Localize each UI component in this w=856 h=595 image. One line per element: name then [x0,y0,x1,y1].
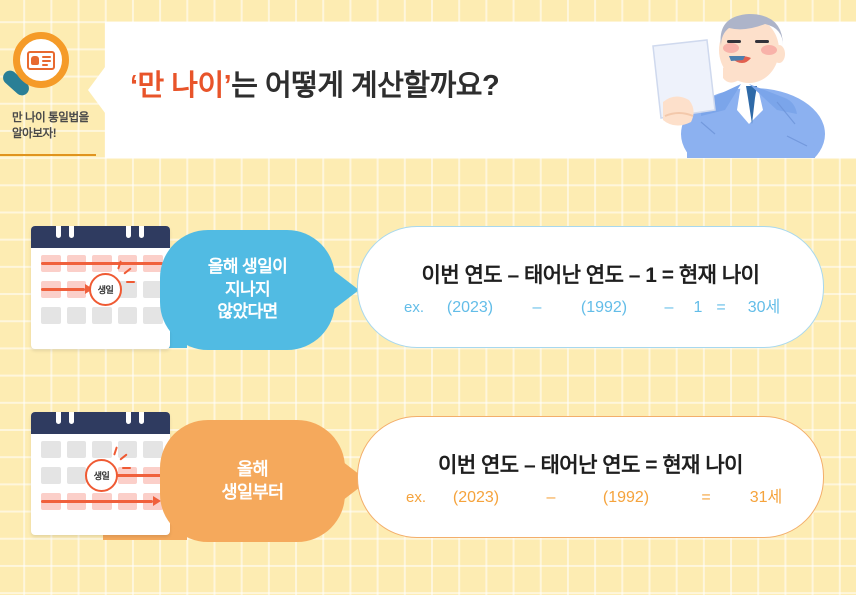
id-card-line-2 [42,60,51,62]
calendar-ring-4 [139,226,144,238]
example-operator-equals: = [708,299,734,317]
logo-underline [0,154,96,156]
calendar-arrow-week3 [41,500,153,503]
person-hand-holding [663,96,694,125]
example-operator-equals: = [676,489,736,507]
example-label: ex. [358,299,424,316]
id-card-line-1 [42,56,51,58]
example-this-year: (2023) [424,299,516,317]
calendar-before-birthday-icon: 생일 [31,220,170,352]
calendar-ring-2 [69,412,74,424]
example-result: 30세 [734,293,794,317]
formula-before-birthday: 이번 연도 – 태어난 연도 – 1 = 현재 나이 [358,259,823,289]
calendar-ring-3 [126,226,131,238]
birthday-spark-2 [122,467,131,469]
example-birth-year: (1992) [558,299,650,317]
formula-card-after-birthday: 이번 연도 – 태어난 연도 = 현재 나이 ex. (2023) – (199… [357,416,824,538]
birthday-marker: 생일 [85,459,118,492]
calendar-line-week1 [41,262,163,265]
calendar-line-week2 [115,474,163,477]
id-card-face-icon [31,56,39,65]
magnifier-icon [13,32,81,100]
calendar-body: 생일 [31,226,170,349]
example-after-birthday: ex. (2023) – (1992) = 31세 [358,483,823,507]
man-reading-document-illustration [645,6,830,158]
calendar-ring-4 [139,412,144,424]
calendar-body: 생일 [31,412,170,535]
calendar-after-birthday-icon: 생일 [31,406,170,538]
example-operator-minus-2: – [650,299,688,317]
calendar-week-1 [41,441,163,458]
calendar-ring-1 [56,412,61,424]
id-card-icon [27,51,55,70]
logo-caption-line-1: 만 나이 통일법을 [12,110,100,126]
calendar-ring-2 [69,226,74,238]
birthday-marker: 생일 [89,273,122,306]
page-title-rest: 는 어떻게 계산할까요? [231,70,499,102]
calendar-ring-3 [126,412,131,424]
bubble-line-2: 생일부터 [222,481,284,504]
bubble-line-2: 지나지 [225,279,270,301]
logo-caption: 만 나이 통일법을 알아보자! [12,110,100,143]
example-this-year: (2023) [426,489,526,507]
bubble-line-1: 올해 생일이 [208,256,287,278]
bubble-after-birthday: 올해 생일부터 [160,420,345,542]
bubble-before-birthday: 올해 생일이 지나지 않았다면 [160,230,335,350]
example-subtract-one: 1 [688,299,708,317]
calendar-arrow-week2 [41,288,85,291]
calendar-header-bar [31,226,170,248]
example-birth-year: (1992) [576,489,676,507]
calendar-header-bar [31,412,170,434]
example-operator-minus: – [526,489,576,507]
row-after-birthday: 생일 올해 생일부터 이번 연도 – 태어난 연도 = 현재 나이 ex. (2… [0,398,856,558]
row-before-birthday: 생일 올해 생일이 지나지 않았다면 이번 연도 – 태어난 연도 – 1 = … [0,212,856,367]
example-before-birthday: ex. (2023) – (1992) – 1 = 30세 [358,293,823,317]
bubble-line-3: 않았다면 [217,301,277,323]
logo-block: 만 나이 통일법을 알아보자! [0,20,100,158]
example-result: 31세 [736,483,796,507]
bubble-before-birthday-tail [325,264,359,316]
formula-after-birthday: 이번 연도 – 태어난 연도 = 현재 나이 [358,449,823,479]
page-title: ‘만 나이’는 어떻게 계산할까요? [130,62,650,104]
id-card-line-3 [42,64,48,66]
calendar-ring-1 [56,226,61,238]
page-title-highlight: ‘만 나이’ [130,70,231,102]
formula-card-before-birthday: 이번 연도 – 태어난 연도 – 1 = 현재 나이 ex. (2023) – … [357,226,824,348]
bubble-line-1: 올해 [237,458,268,481]
example-operator-minus-1: – [516,299,558,317]
example-label: ex. [358,489,426,506]
infographic-canvas: ‘만 나이’는 어떻게 계산할까요? 만 나이 통일법을 알아보자! [0,0,856,595]
birthday-marker-label: 생일 [98,283,114,296]
calendar-week-3 [41,307,163,324]
logo-caption-line-2: 알아보자! [12,126,100,142]
birthday-spark-2 [126,281,135,283]
birthday-marker-label: 생일 [94,469,110,482]
